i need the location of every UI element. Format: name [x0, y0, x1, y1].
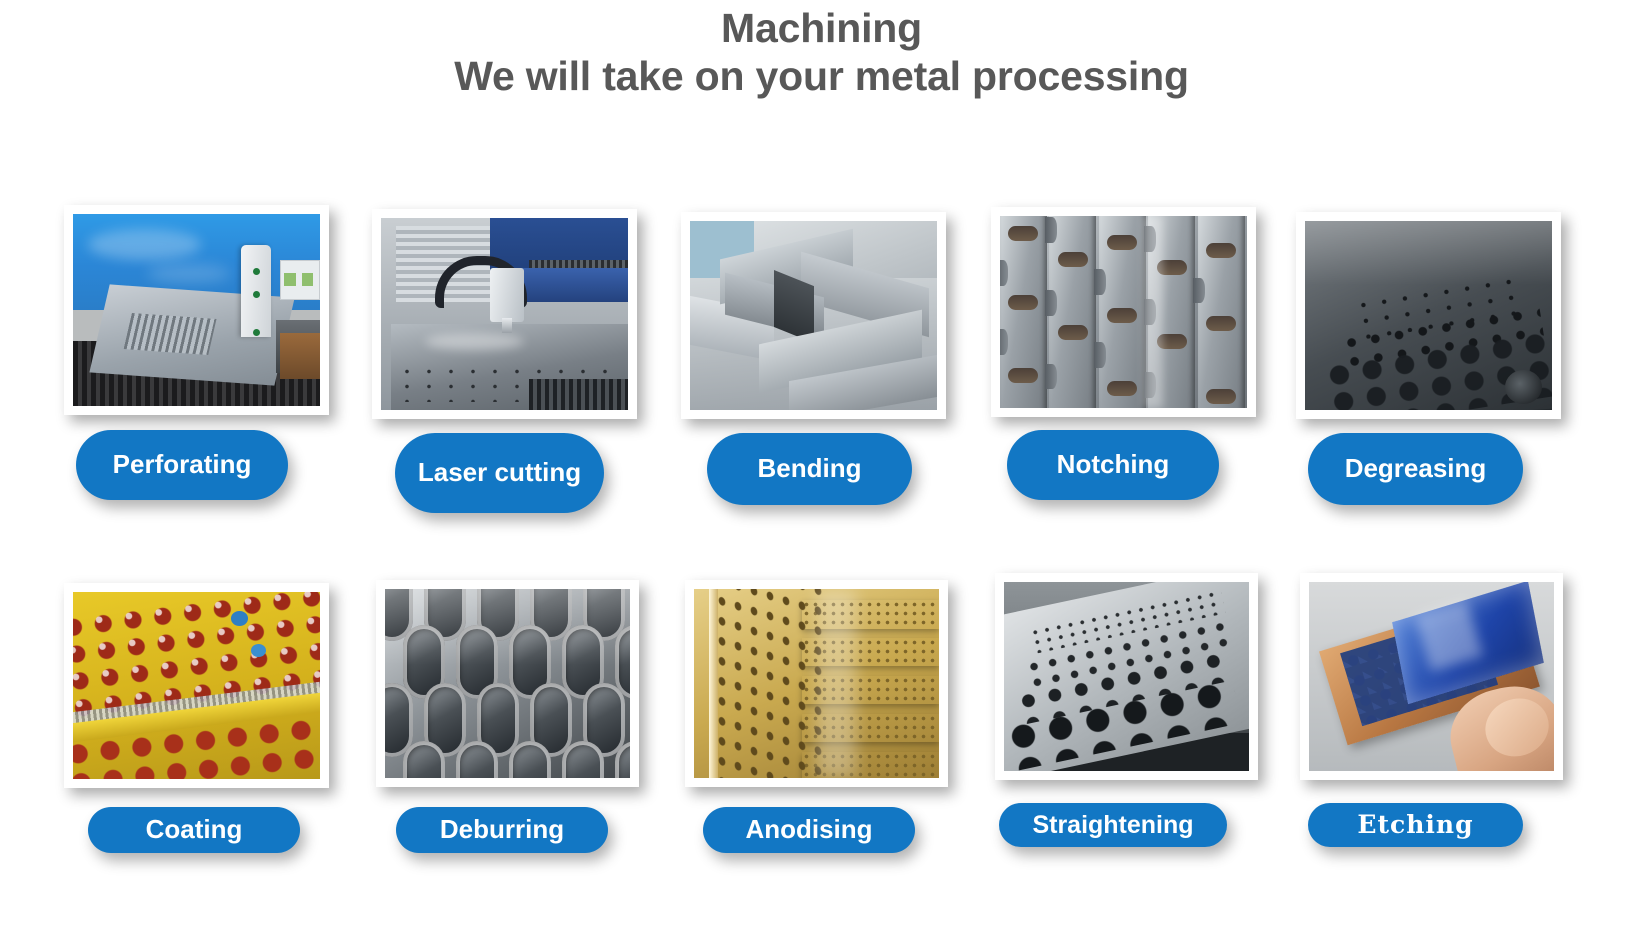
process-label-laser-cutting[interactable]: Laser cutting — [395, 433, 604, 513]
process-card-coating[interactable]: Coating — [60, 565, 350, 925]
image-etching — [1309, 582, 1554, 771]
process-card-deburring[interactable]: Deburring — [368, 565, 658, 925]
process-card-bending[interactable]: Bending — [675, 205, 965, 565]
process-label-anodising[interactable]: Anodising — [703, 807, 915, 853]
photo-card-frame — [64, 205, 329, 415]
process-label-coating[interactable]: Coating — [88, 807, 300, 853]
label-text: Laser cutting — [418, 458, 581, 487]
process-label-perforating[interactable]: Perforating — [76, 430, 288, 500]
process-card-laser-cutting[interactable]: Laser cutting — [368, 205, 658, 565]
photo-card-frame — [372, 209, 637, 419]
process-card-etching[interactable]: Etching — [1290, 565, 1580, 925]
image-degreasing — [1305, 221, 1552, 410]
page-header: Machining We will take on your metal pro… — [0, 0, 1643, 101]
process-label-deburring[interactable]: Deburring — [396, 807, 608, 853]
image-bending — [690, 221, 937, 410]
image-notching — [1000, 216, 1247, 408]
photo-card-frame — [1296, 212, 1561, 419]
process-card-anodising[interactable]: Anodising — [675, 565, 965, 925]
process-card-perforating[interactable]: Perforating — [60, 205, 350, 565]
photo-card-frame — [376, 580, 639, 787]
photo-card-frame — [64, 583, 329, 788]
process-card-notching[interactable]: Notching — [985, 205, 1275, 565]
process-grid: Perforating — [0, 205, 1643, 925]
process-card-degreasing[interactable]: Degreasing — [1290, 205, 1580, 565]
process-label-bending[interactable]: Bending — [707, 433, 912, 505]
process-row-1: Perforating — [0, 205, 1643, 565]
label-text: Anodising — [745, 815, 872, 844]
photo-card-frame — [1300, 573, 1563, 780]
image-laser-cutting — [381, 218, 628, 410]
image-perforating — [73, 214, 320, 406]
label-text: Bending — [758, 454, 862, 483]
process-label-etching[interactable]: Etching — [1308, 803, 1523, 847]
label-text: Straightening — [1032, 811, 1193, 839]
process-label-degreasing[interactable]: Degreasing — [1308, 433, 1523, 505]
photo-card-frame — [991, 207, 1256, 417]
page-title-secondary: We will take on your metal processing — [0, 52, 1643, 100]
label-text: Etching — [1357, 811, 1473, 839]
page-title-primary: Machining — [0, 4, 1643, 52]
photo-card-frame — [685, 580, 948, 787]
label-text: Perforating — [113, 450, 252, 479]
photo-card-frame — [995, 573, 1258, 780]
image-straightening — [1004, 582, 1249, 771]
process-row-2: Coating — [0, 565, 1643, 925]
label-text: Degreasing — [1345, 454, 1487, 483]
photo-card-frame — [681, 212, 946, 419]
process-label-notching[interactable]: Notching — [1007, 430, 1219, 500]
image-deburring — [385, 589, 630, 778]
image-coating — [73, 592, 320, 779]
label-text: Notching — [1057, 450, 1170, 479]
process-label-straightening[interactable]: Straightening — [999, 803, 1227, 847]
process-card-straightening[interactable]: Straightening — [985, 565, 1275, 925]
label-text: Coating — [146, 815, 243, 844]
image-anodising — [694, 589, 939, 778]
label-text: Deburring — [440, 815, 564, 844]
